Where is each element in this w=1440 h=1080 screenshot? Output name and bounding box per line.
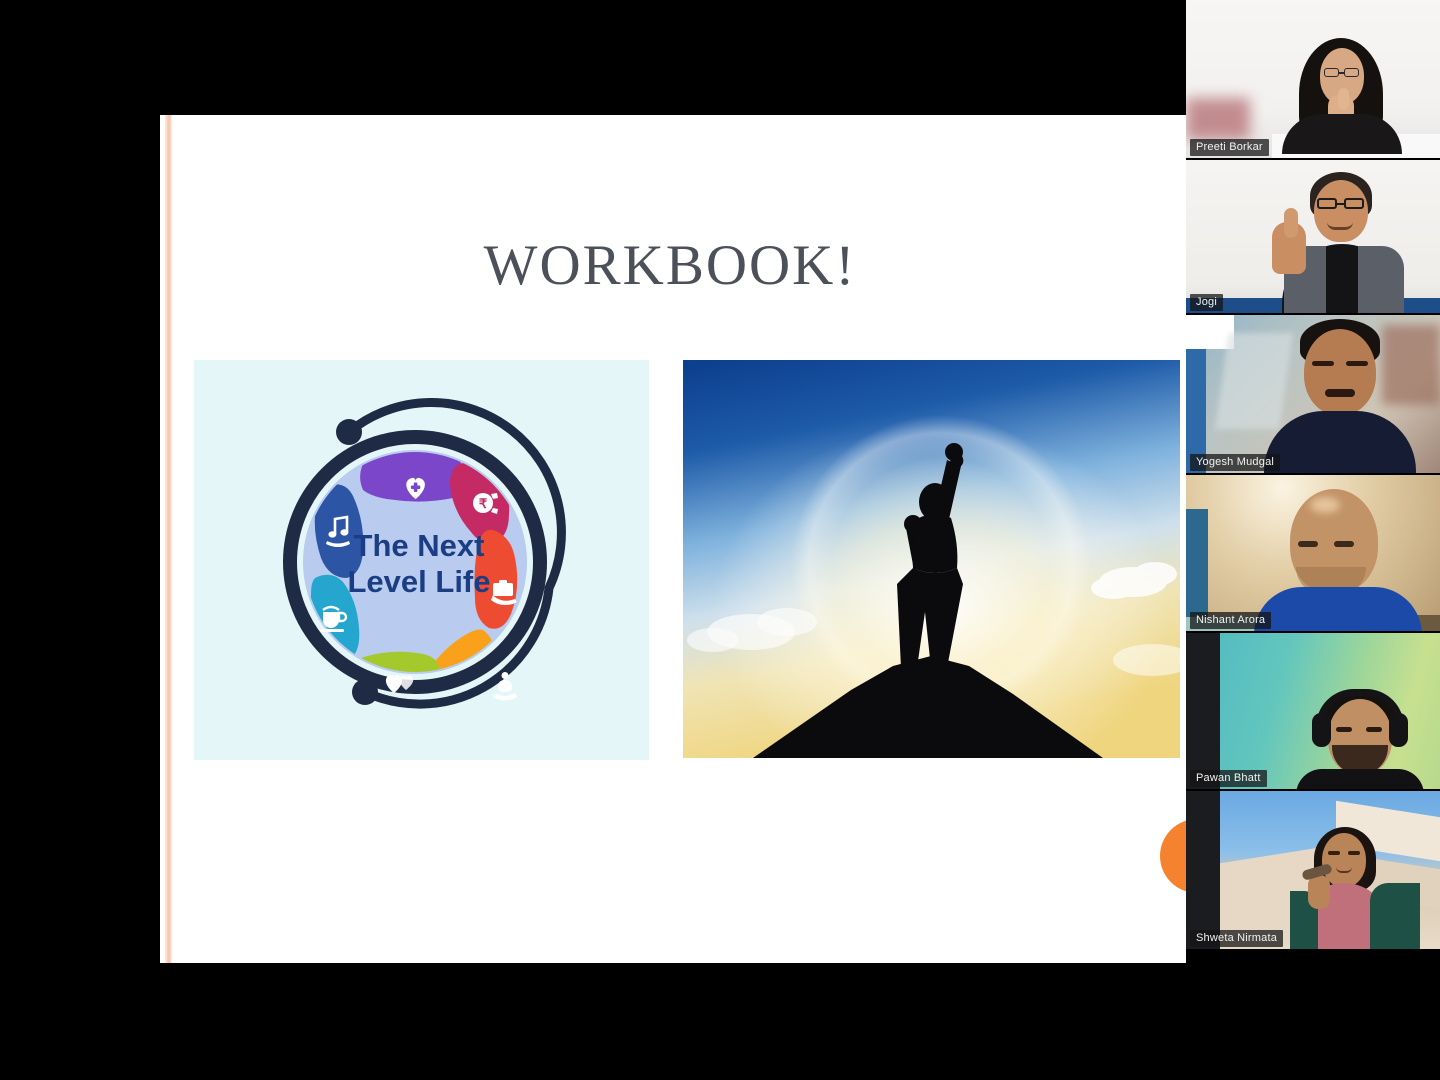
participant-tile[interactable]: Yogesh Mudgal (1186, 315, 1440, 475)
shared-screen-slide[interactable]: WORKBOOK! (160, 115, 1260, 963)
participant-name: Pawan Bhatt (1190, 770, 1267, 787)
tile-divider (1186, 789, 1440, 791)
participant-tile[interactable]: Jogi (1186, 160, 1440, 315)
eyeglasses (1344, 68, 1359, 77)
orbit-dot-top (336, 419, 362, 445)
meeting-window: WORKBOOK! (0, 0, 1440, 1080)
participant-tile[interactable]: Preeti Borkar (1186, 0, 1440, 160)
participant-filmstrip[interactable]: Preeti Borkar (1186, 0, 1440, 1080)
logo-text-line2: Level Life (347, 564, 490, 599)
participant-video (1186, 160, 1440, 315)
filmstrip-empty-area (1186, 951, 1440, 1080)
headphone-ear-right (1389, 713, 1408, 747)
letterbox-bar (1186, 791, 1220, 951)
logo-text-line1: The Next (353, 528, 484, 563)
participant-name: Jogi (1190, 294, 1223, 311)
participant-tile[interactable]: Pawan Bhatt (1186, 633, 1440, 791)
tile-divider (1186, 949, 1440, 951)
headphone-ear-left (1312, 713, 1331, 747)
eyeglasses (1324, 68, 1339, 77)
tile-divider (1186, 473, 1440, 475)
participant-tile[interactable]: Nishant Arora (1186, 475, 1440, 633)
logo-wrap: ₹ (257, 380, 587, 740)
page-title: WORKBOOK! (160, 233, 1180, 298)
letterbox-bar (1186, 633, 1220, 791)
participant-name: Nishant Arora (1190, 612, 1271, 629)
participant-video (1186, 791, 1440, 951)
mountain-victory-image (683, 360, 1180, 758)
mountain-victory-svg (683, 360, 1180, 758)
participant-name: Preeti Borkar (1190, 139, 1269, 156)
tile-divider (1186, 631, 1440, 633)
next-level-life-logo-image: ₹ (194, 360, 649, 760)
participant-video (1186, 475, 1440, 633)
eyeglasses (1344, 198, 1364, 209)
participant-video (1186, 633, 1440, 791)
tile-divider (1186, 158, 1440, 160)
participant-video (1186, 0, 1440, 160)
participant-name: Yogesh Mudgal (1190, 454, 1280, 471)
tile-divider (1186, 313, 1440, 315)
participant-name: Shweta Nirmata (1190, 930, 1283, 947)
participant-tile[interactable]: Shweta Nirmata (1186, 791, 1440, 951)
svg-text:₹: ₹ (478, 496, 487, 511)
eyeglasses (1317, 198, 1337, 209)
participant-video (1186, 315, 1440, 475)
next-level-life-logo-svg: ₹ (257, 380, 587, 740)
